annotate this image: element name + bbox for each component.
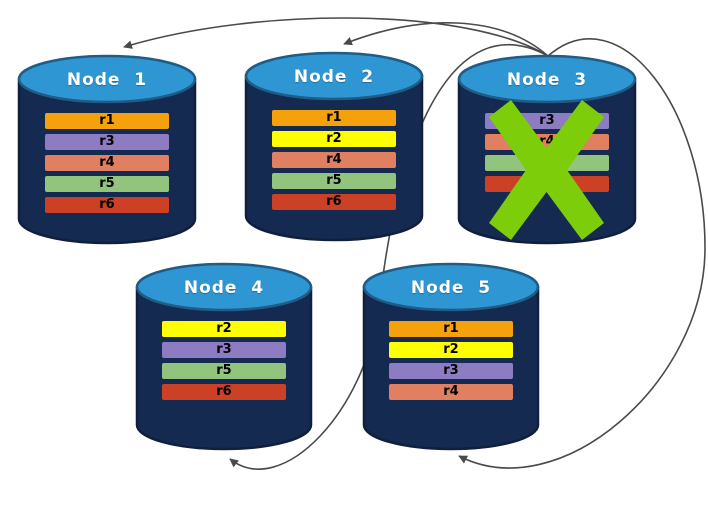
- record-chip[interactable]: r2: [272, 131, 396, 147]
- record-chip[interactable]: r3: [162, 342, 286, 358]
- record-chip[interactable]: r1: [272, 110, 396, 126]
- node-5[interactable]: Node 5 r1 r2 r3 r4: [361, 263, 541, 449]
- record-chip[interactable]: r2: [162, 321, 286, 337]
- record-chip[interactable]: r5: [272, 173, 396, 189]
- record-chip[interactable]: r1: [389, 321, 513, 337]
- node-3[interactable]: Node 3 r3 r4 r5 r6: [456, 55, 638, 243]
- record-chip[interactable]: r4: [389, 384, 513, 400]
- record-chip[interactable]: r6: [272, 194, 396, 210]
- record-chip[interactable]: r4: [45, 155, 169, 171]
- node-4-title: Node 4: [134, 278, 314, 298]
- node-2-title: Node 2: [243, 67, 425, 87]
- record-chip[interactable]: r5: [485, 155, 609, 171]
- record-chip[interactable]: r5: [45, 176, 169, 192]
- node-4-records: r2 r3 r5 r6: [134, 321, 314, 405]
- record-chip[interactable]: r2: [389, 342, 513, 358]
- record-chip[interactable]: r6: [162, 384, 286, 400]
- record-chip[interactable]: r1: [45, 113, 169, 129]
- node-1-records: r1 r3 r4 r5 r6: [16, 113, 198, 218]
- node-5-records: r1 r2 r3 r4: [361, 321, 541, 405]
- node-2[interactable]: Node 2 r1 r2 r4 r5 r6: [243, 52, 425, 240]
- edge-node3-to-node1: [124, 18, 548, 56]
- node-1-title: Node 1: [16, 70, 198, 90]
- record-chip[interactable]: r4: [485, 134, 609, 150]
- record-chip[interactable]: r5: [162, 363, 286, 379]
- node-4[interactable]: Node 4 r2 r3 r5 r6: [134, 263, 314, 449]
- record-chip[interactable]: r4: [272, 152, 396, 168]
- node-2-records: r1 r2 r4 r5 r6: [243, 110, 425, 215]
- record-chip[interactable]: r3: [485, 113, 609, 129]
- record-chip[interactable]: r3: [389, 363, 513, 379]
- node-1[interactable]: Node 1 r1 r3 r4 r5 r6: [16, 55, 198, 243]
- node-5-title: Node 5: [361, 278, 541, 298]
- record-chip[interactable]: r6: [485, 176, 609, 192]
- record-chip[interactable]: r6: [45, 197, 169, 213]
- node-3-records: r3 r4 r5 r6: [456, 113, 638, 197]
- node-3-title: Node 3: [456, 70, 638, 90]
- record-chip[interactable]: r3: [45, 134, 169, 150]
- diagram-canvas: Node 1 r1 r3 r4 r5 r6 Node 2 r1 r2 r4 r5…: [0, 0, 708, 508]
